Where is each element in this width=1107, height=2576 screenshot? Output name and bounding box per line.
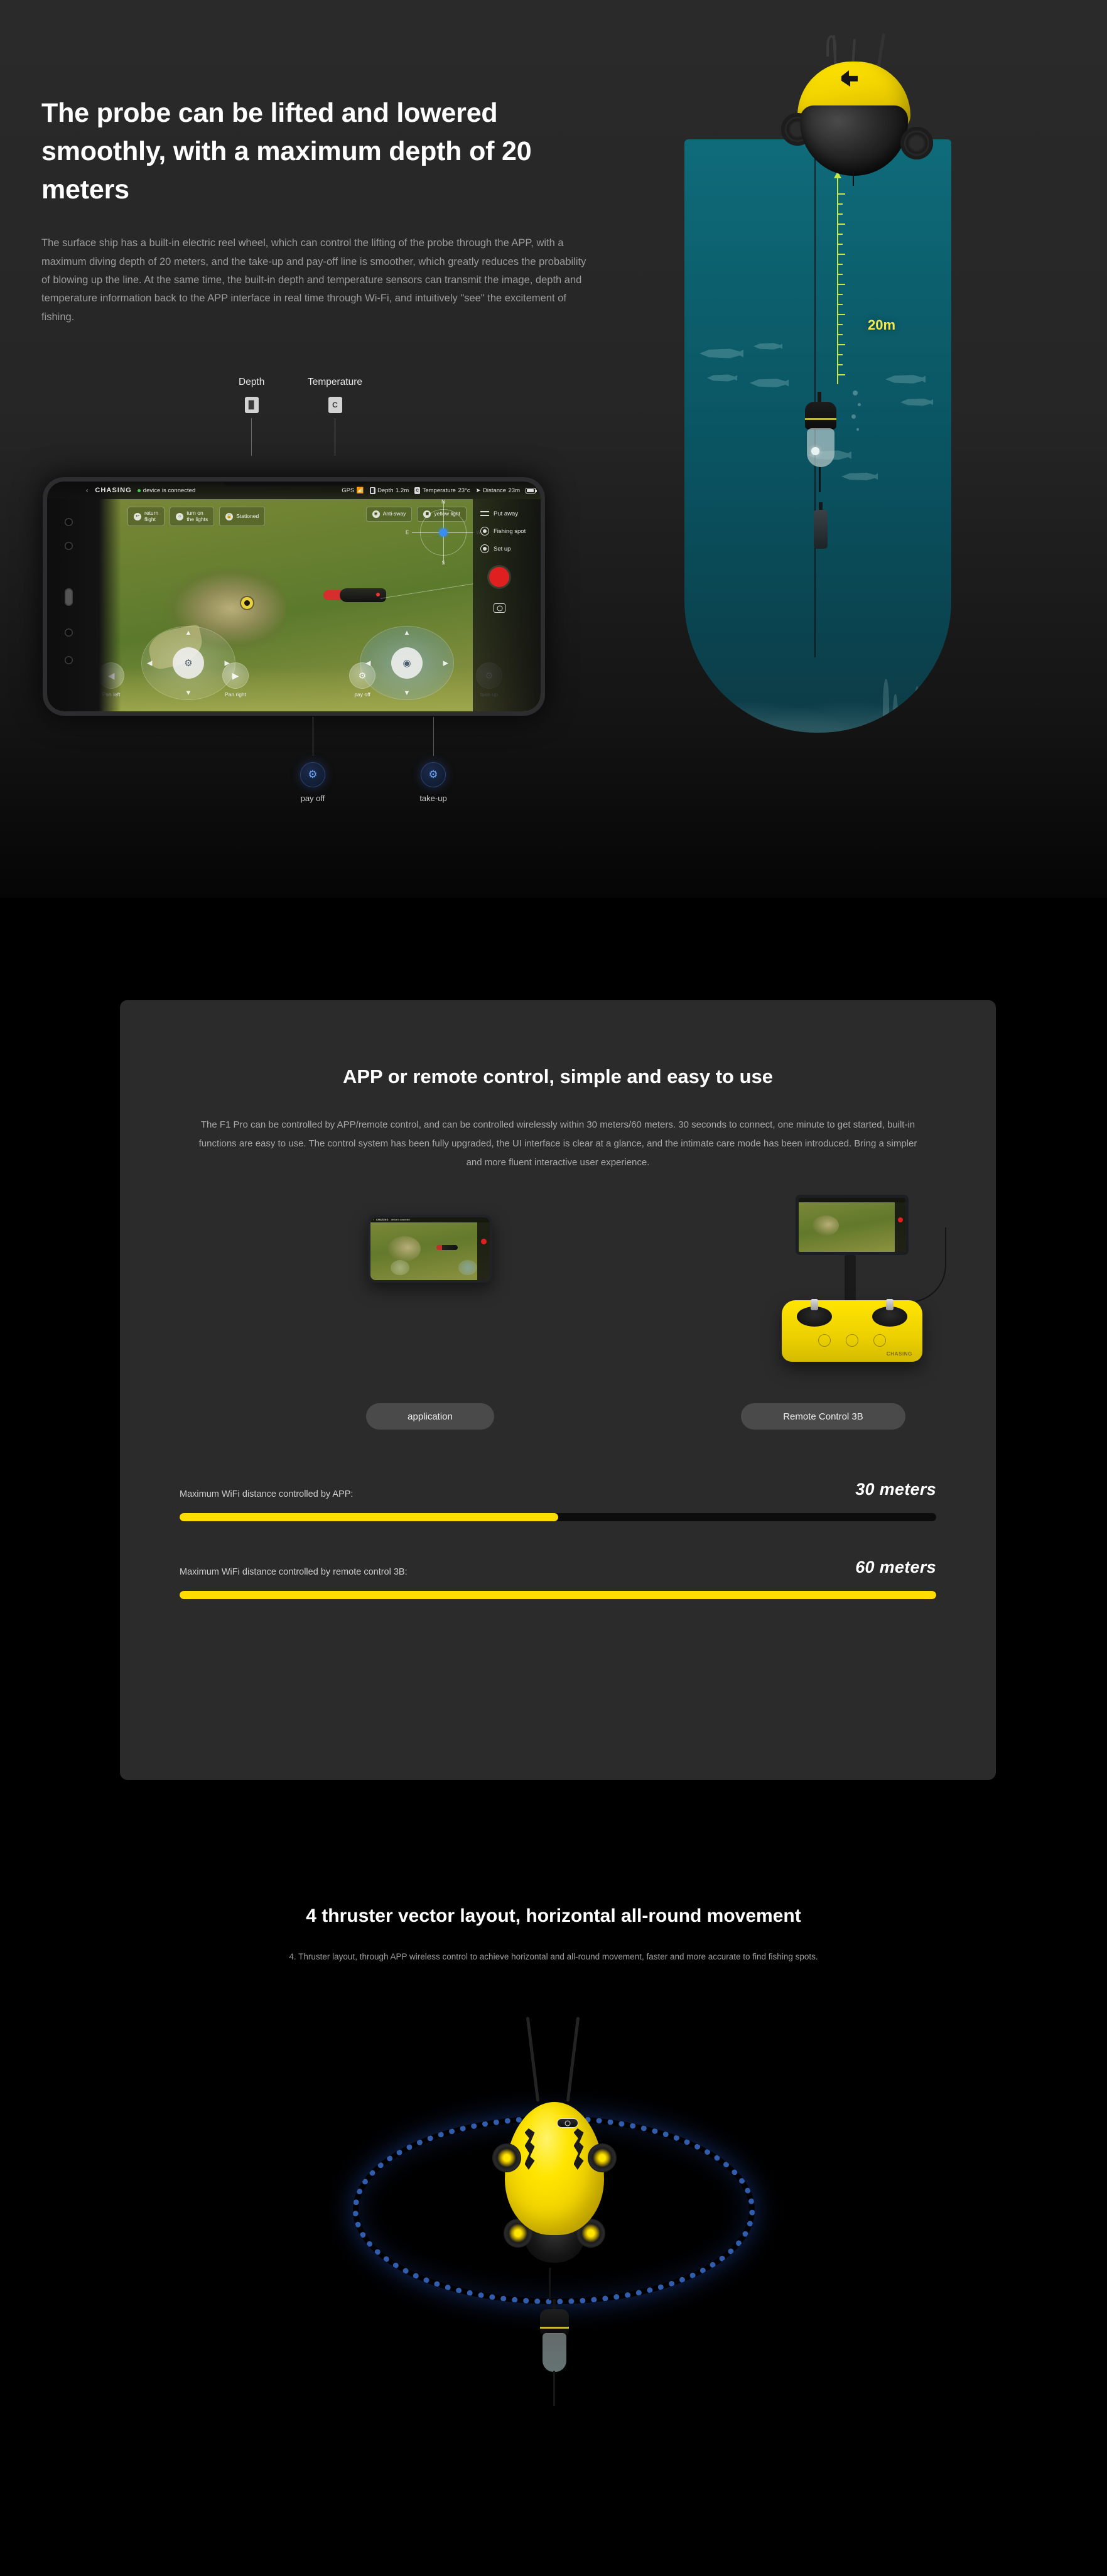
- thruster-diagram: [240, 1985, 868, 2456]
- status-dot-icon: [138, 489, 141, 492]
- app-screen: ‹ CHASING device is connected GPS 📶 █ De…: [47, 482, 541, 711]
- underwater-probe-image: [802, 402, 839, 477]
- reel-callout-pay-off: ⚙ pay off: [289, 717, 337, 803]
- meter-remote: Maximum WiFi distance controlled by remo…: [180, 1558, 936, 1599]
- section-depth-body: The surface ship has a built-in electric…: [41, 234, 594, 326]
- meter-app-track: [180, 1513, 936, 1521]
- section-control-body: The F1 Pro can be controlled by APP/remo…: [194, 1116, 922, 1172]
- meter-app: Maximum WiFi distance controlled by APP:…: [180, 1480, 936, 1521]
- app-status-bar: ‹ CHASING device is connected GPS 📶 █ De…: [47, 482, 541, 499]
- depth-marker-label: 20m: [868, 317, 895, 333]
- wifi-icon: 📶: [357, 487, 364, 494]
- drone-camera-icon: [557, 2118, 578, 2128]
- thruster-icon: [492, 2143, 521, 2172]
- camera-button[interactable]: [494, 603, 505, 613]
- meter-remote-fill: [180, 1591, 936, 1599]
- status-distance: ➤ Distance 23m: [476, 487, 520, 494]
- chip-return-flight[interactable]: ↩ return flight: [127, 507, 165, 526]
- mini-back-icon: ‹: [373, 1219, 374, 1221]
- callout-depth: Depth ▉: [239, 377, 264, 456]
- app-brand-logo: CHASING: [95, 487, 131, 494]
- phone-device-image: ‹ CHASING device is connected: [368, 1215, 492, 1283]
- sidebar-item-fishing-spot[interactable]: Fishing spot: [480, 527, 526, 536]
- probe-bottom-image: [540, 2299, 569, 2406]
- fishing-spot-icon: [480, 527, 489, 536]
- section-depth-text: The probe can be lifted and lowered smoo…: [41, 94, 607, 326]
- chip-turn-on-lights[interactable]: ☼ turn on the lights: [170, 507, 214, 526]
- depth-icon: █: [370, 487, 375, 494]
- callout-temperature: Temperature C: [308, 377, 362, 456]
- phone-mockup: ‹ CHASING device is connected GPS 📶 █ De…: [43, 477, 545, 716]
- mini-joystick-left: [391, 1260, 409, 1275]
- meter-app-label: Maximum WiFi distance controlled by APP:: [180, 1489, 353, 1499]
- probe-sinker-image: [814, 502, 828, 556]
- meter-remote-value: 60 meters: [855, 1558, 936, 1577]
- lure-image: [323, 587, 396, 605]
- anti-sway-icon: ◉: [372, 510, 380, 518]
- sidebar-item-set-up[interactable]: Set up: [480, 544, 510, 553]
- temperature-icon: C: [414, 487, 420, 494]
- depth-scale: [837, 177, 838, 384]
- pay-off-icon: ⚙: [349, 662, 375, 689]
- remote-control-image: CHASING: [773, 1195, 930, 1364]
- phone-mini-screen: ‹ CHASING device is connected: [370, 1217, 490, 1280]
- depth-sensor-icon: ▉: [245, 397, 259, 413]
- set-up-icon: [480, 544, 489, 553]
- meter-app-value: 30 meters: [855, 1480, 936, 1499]
- lights-icon: ☼: [176, 513, 183, 520]
- pay-off-icon[interactable]: ⚙: [300, 762, 325, 787]
- section-thruster-body: 4. Thruster layout, through APP wireless…: [0, 1952, 1107, 1961]
- remote-mounted-screen: [796, 1195, 909, 1255]
- mini-brand: CHASING: [376, 1219, 389, 1221]
- remote-stick-right: [872, 1307, 907, 1327]
- pan-right-icon: ▶: [222, 662, 249, 689]
- battery-icon: [526, 488, 536, 493]
- status-depth: █ Depth 1.2m: [370, 487, 409, 494]
- product-feature-page: The probe can be lifted and lowered smoo…: [0, 0, 1107, 2576]
- pad-button-pay-off[interactable]: ⚙ pay off: [347, 662, 377, 698]
- probe-lens-icon: [811, 447, 819, 455]
- remote-button-left: [818, 1334, 831, 1347]
- back-icon[interactable]: ‹: [86, 487, 88, 494]
- return-flight-icon: ↩: [134, 513, 141, 520]
- callout-temperature-label: Temperature: [308, 377, 362, 388]
- meter-app-fill: [180, 1513, 558, 1521]
- section-control-title: APP or remote control, simple and easy t…: [120, 1000, 996, 1088]
- remote-mount-arm: [845, 1255, 856, 1304]
- status-temperature: C Temperature 23°c: [414, 487, 470, 494]
- app-right-sidebar: Put away Fishing spot Set up: [473, 499, 541, 711]
- pad-button-pan-right[interactable]: ▶ Pan right: [220, 662, 251, 698]
- reel-callout-take-up: ⚙ take-up: [409, 717, 457, 803]
- remote-body: CHASING: [782, 1300, 922, 1362]
- mini-record-button: [481, 1239, 487, 1244]
- mini-joystick-right: [458, 1260, 477, 1275]
- temperature-sensor-icon: C: [328, 397, 342, 413]
- joystick-right-hub[interactable]: ◉: [391, 647, 423, 679]
- drone-tether: [549, 2268, 551, 2300]
- section-thruster-title: 4 thruster vector layout, horizontal all…: [0, 1858, 1107, 1927]
- drone-top-view: [496, 2091, 613, 2279]
- mini-status-bar: ‹ CHASING device is connected: [370, 1217, 490, 1222]
- callout-temperature-stem: [335, 418, 335, 456]
- thruster-icon: [900, 127, 933, 159]
- meter-remote-track: [180, 1591, 936, 1599]
- chip-anti-sway[interactable]: ◉ Anti-sway: [366, 507, 413, 522]
- drone-cable: [853, 171, 854, 186]
- pill-remote-control[interactable]: Remote Control 3B: [741, 1403, 905, 1430]
- section-control-card: APP or remote control, simple and easy t…: [120, 1000, 996, 1780]
- callout-depth-stem: [251, 418, 252, 456]
- pill-application[interactable]: application: [366, 1403, 494, 1430]
- device-labels: application Remote Control 3B: [120, 1403, 996, 1436]
- joystick-left-hub[interactable]: ⚙: [173, 647, 204, 679]
- drone-antenna: [566, 2017, 580, 2102]
- app-left-controls: ↩ return flight ☼ turn on the lights 🔒 S…: [127, 507, 265, 526]
- mini-connection: device is connected: [391, 1219, 410, 1221]
- lock-icon: 🔒: [225, 513, 233, 520]
- drone-dome: [800, 105, 908, 176]
- put-away-icon: [480, 509, 489, 518]
- device-images: ‹ CHASING device is connected: [120, 1202, 996, 1391]
- thruster-icon: [588, 2143, 617, 2172]
- page-title: The probe can be lifted and lowered smoo…: [41, 94, 594, 209]
- meter-remote-label: Maximum WiFi distance controlled by remo…: [180, 1567, 408, 1577]
- remote-brand-label: CHASING: [887, 1351, 912, 1357]
- mini-sidebar: [477, 1222, 490, 1280]
- section-thruster: 4 thruster vector layout, horizontal all…: [0, 1858, 1107, 2576]
- compass-pin-icon: [440, 529, 448, 537]
- section-depth: The probe can be lifted and lowered smoo…: [0, 0, 1107, 898]
- phone-bezel-left: [47, 482, 121, 711]
- remote-button-center: [846, 1334, 858, 1347]
- surface-drone-image: [761, 25, 937, 170]
- callout-depth-label: Depth: [239, 377, 264, 388]
- connection-status: device is connected: [138, 487, 195, 494]
- remote-cable: [907, 1227, 946, 1303]
- chip-stationed[interactable]: 🔒 Stationed: [219, 507, 265, 526]
- drone-antenna: [526, 2017, 539, 2102]
- status-gps: GPS 📶: [342, 487, 364, 494]
- remote-stick-left: [797, 1307, 832, 1327]
- drone-hull: [505, 2102, 604, 2235]
- remote-button-right: [873, 1334, 886, 1347]
- mini-lure-image: [436, 1245, 458, 1250]
- fish-eye: [241, 597, 253, 609]
- take-up-icon[interactable]: ⚙: [421, 762, 446, 787]
- compass-widget: N S E W: [420, 509, 467, 556]
- record-button[interactable]: [489, 567, 509, 587]
- wifi-distance-chart: Maximum WiFi distance controlled by APP:…: [120, 1480, 996, 1599]
- tether-line: [814, 139, 816, 657]
- sidebar-item-put-away[interactable]: Put away: [480, 509, 518, 518]
- navigation-icon: ➤: [476, 487, 481, 494]
- mini-fish-image: [388, 1236, 421, 1261]
